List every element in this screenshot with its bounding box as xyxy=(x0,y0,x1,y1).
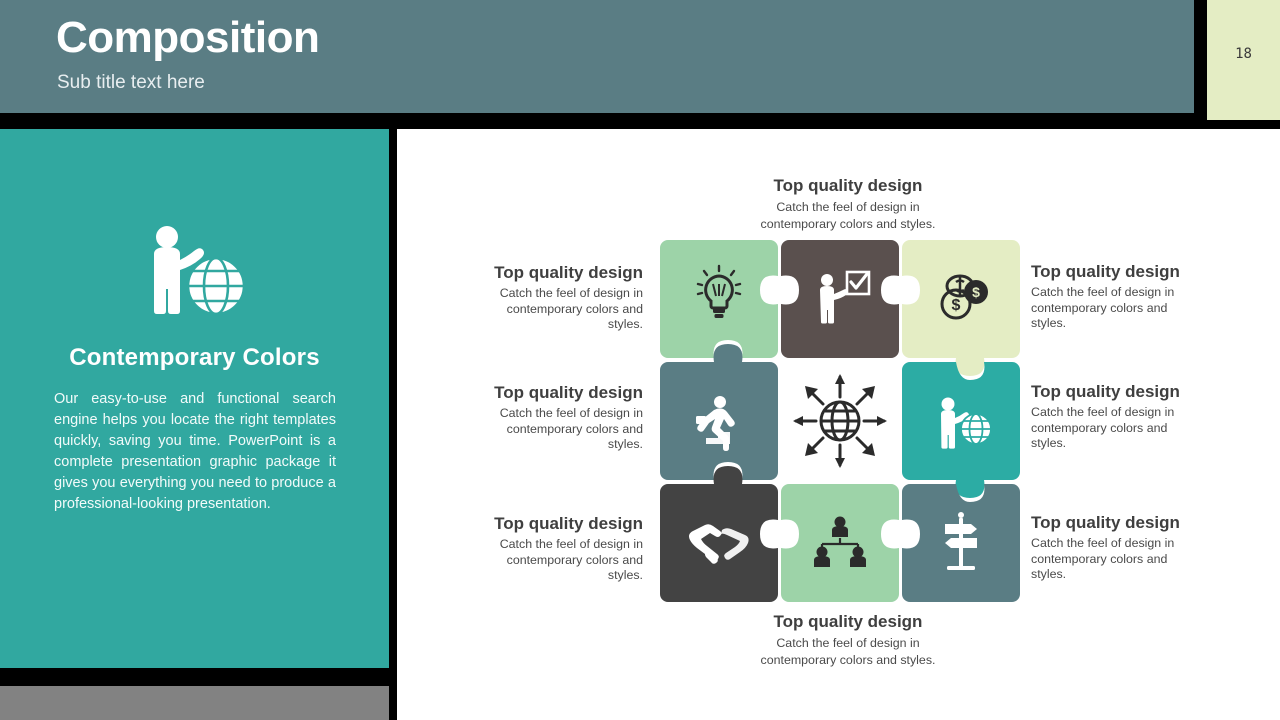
label-title: Top quality design xyxy=(1031,512,1216,534)
slide: Composition Sub title text here 18 Conte… xyxy=(0,0,1280,720)
footer-accent-bar xyxy=(0,686,389,720)
label-title: Top quality design xyxy=(463,513,643,535)
piece-shape xyxy=(660,240,778,358)
label-right-upper: Top quality design Catch the feel of des… xyxy=(1031,261,1216,332)
left-panel-body: Our easy-to-use and functional search en… xyxy=(54,389,336,515)
puzzle-piece-middle-right[interactable] xyxy=(902,362,1020,480)
puzzle-piece-top-center[interactable] xyxy=(781,240,899,358)
label-bottom: Top quality design Catch the feel of des… xyxy=(698,611,998,668)
page-number-panel: 18 xyxy=(1207,0,1280,120)
puzzle-piece-top-right[interactable]: $ $ xyxy=(902,240,1020,358)
label-right-middle: Top quality design Catch the feel of des… xyxy=(1031,381,1216,452)
left-info-panel: Contemporary Colors Our easy-to-use and … xyxy=(0,129,389,668)
globe-arrows-icon xyxy=(790,371,890,471)
page-number: 18 xyxy=(1207,46,1280,62)
label-body: Catch the feel of design in contemporary… xyxy=(698,199,998,232)
label-title: Top quality design xyxy=(463,262,643,284)
label-body: Catch the feel of design in contemporary… xyxy=(1031,285,1216,332)
center-globe-cell xyxy=(781,362,899,480)
label-title: Top quality design xyxy=(1031,381,1216,403)
label-right-lower: Top quality design Catch the feel of des… xyxy=(1031,512,1216,583)
label-body: Catch the feel of design in contemporary… xyxy=(1031,536,1216,583)
label-title: Top quality design xyxy=(463,382,643,404)
left-panel-heading: Contemporary Colors xyxy=(0,344,389,372)
puzzle-piece-bottom-left[interactable] xyxy=(660,484,778,602)
svg-text:$: $ xyxy=(952,297,961,314)
label-body: Catch the feel of design in contemporary… xyxy=(463,406,643,453)
puzzle-piece-top-left[interactable] xyxy=(660,240,778,358)
page-title: Composition xyxy=(56,14,319,62)
label-title: Top quality design xyxy=(698,611,998,633)
puzzle-piece-middle-left[interactable] xyxy=(660,362,778,480)
page-subtitle: Sub title text here xyxy=(57,72,205,94)
puzzle-piece-bottom-right[interactable] xyxy=(902,484,1020,602)
label-title: Top quality design xyxy=(698,175,998,197)
svg-text:$: $ xyxy=(972,284,980,300)
label-left-upper: Top quality design Catch the feel of des… xyxy=(463,262,643,333)
label-top: Top quality design Catch the feel of des… xyxy=(698,175,998,232)
presenter-globe-icon xyxy=(0,224,389,324)
header-bar: Composition Sub title text here xyxy=(0,0,1194,113)
label-title: Top quality design xyxy=(1031,261,1216,283)
label-body: Catch the feel of design in contemporary… xyxy=(698,635,998,668)
label-body: Catch the feel of design in contemporary… xyxy=(463,537,643,584)
label-body: Catch the feel of design in contemporary… xyxy=(1031,405,1216,452)
puzzle-infographic: $ $ xyxy=(660,240,1020,602)
label-left-middle: Top quality design Catch the feel of des… xyxy=(463,382,643,453)
label-left-lower: Top quality design Catch the feel of des… xyxy=(463,513,643,584)
label-body: Catch the feel of design in contemporary… xyxy=(463,286,643,333)
puzzle-piece-bottom-center[interactable] xyxy=(781,484,899,602)
piece-shape xyxy=(781,240,899,358)
piece-shape xyxy=(902,240,1020,376)
